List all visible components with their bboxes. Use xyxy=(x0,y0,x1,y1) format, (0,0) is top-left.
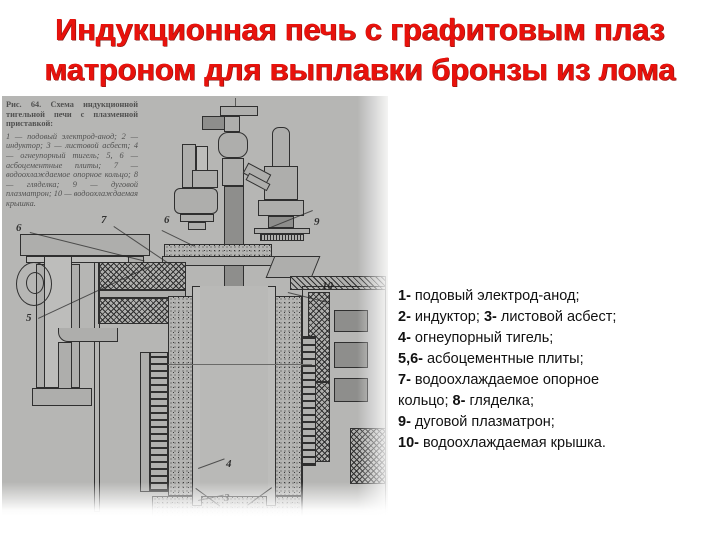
plasmatron-seal-ring xyxy=(260,234,304,241)
callout-6-left: 6 xyxy=(16,222,22,234)
plasmatron-lower-flange xyxy=(258,200,304,216)
plasmatron-body xyxy=(272,127,290,171)
aux-motor-base xyxy=(180,214,214,222)
callout-7: 7 xyxy=(101,214,107,226)
legend-item-10: 10- водоохлаждаемая крышка. xyxy=(398,433,716,454)
callout-10: 10 xyxy=(322,280,333,292)
callout-5: 5 xyxy=(26,312,32,324)
refractory-packing-right xyxy=(274,296,302,496)
aux-motor-housing xyxy=(174,188,218,214)
legend-num-3: 3- xyxy=(484,309,497,325)
legend-text-8: гляделка; xyxy=(465,393,534,409)
legend-item-1: 1- подовый электрод-анод; xyxy=(398,286,716,307)
callout-3: 3 xyxy=(224,492,230,504)
aux-gearbox xyxy=(192,170,218,188)
side-hook-ring-inner xyxy=(26,272,44,294)
legend-num-10: 10- xyxy=(398,435,419,451)
callout-9: 9 xyxy=(314,216,320,228)
right-terminal-block-3 xyxy=(334,378,368,402)
column-cap-block xyxy=(220,106,258,116)
legend-text-7: водоохлаждаемое опорное xyxy=(411,372,599,388)
legend-text-10: водоохлаждаемая крышка. xyxy=(419,435,606,451)
legend-text-2: индуктор; xyxy=(411,309,484,325)
legend-text-5-6: асбоцементные плиты; xyxy=(423,351,584,367)
side-base-block xyxy=(32,388,92,406)
legend-item-7-cont: кольцо; 8- гляделка; xyxy=(398,391,716,412)
legend-num-9: 9- xyxy=(398,414,411,430)
refractory-packing-left xyxy=(168,296,194,496)
legend-item-2: 2- индуктор; 3- листовой асбест; xyxy=(398,307,716,328)
column-sphere-joint xyxy=(218,132,248,158)
support-ring-left xyxy=(98,262,186,290)
legend-list: 1- подовый электрод-анод; 2- индуктор; 3… xyxy=(398,286,716,454)
coil-bus-left xyxy=(140,352,150,492)
aux-motor-foot xyxy=(188,222,206,230)
right-induction-coil xyxy=(302,336,316,466)
legend-num-1: 1- xyxy=(398,288,411,304)
lid-water-jacket xyxy=(266,256,321,278)
page-title: Индукционная печь с графитовым плаз матр… xyxy=(0,10,720,90)
callout-4: 4 xyxy=(226,458,232,470)
legend-item-9: 9- дуговой плазматрон; xyxy=(398,412,716,433)
right-terminal-block-1 xyxy=(334,310,368,332)
central-electrode-rod xyxy=(224,186,244,296)
legend-text-1: подовый электрод-анод; xyxy=(411,288,580,304)
legend-text-9: дуговой плазматрон; xyxy=(411,414,555,430)
right-terminal-block-2 xyxy=(334,342,368,368)
legend-num-4: 4- xyxy=(398,330,411,346)
legend-text-4: огнеупорный тигель; xyxy=(411,330,553,346)
legend-num-5-6: 5,6- xyxy=(398,351,423,367)
induction-coil-left xyxy=(150,352,168,492)
legend-text-7-cont: кольцо; xyxy=(398,393,453,409)
furnace-outer-shell-left xyxy=(94,262,100,512)
side-pipe-elbow xyxy=(58,328,118,342)
legend-item-5-6: 5,6- асбоцементные плиты; xyxy=(398,349,716,370)
furnace-cross-section-drawing: 6 7 6 9 10 5 4 3 2 xyxy=(2,96,388,516)
legend-item-4: 4- огнеупорный тигель; xyxy=(398,328,716,349)
legend-num-7: 7- xyxy=(398,372,411,388)
legend-item-7: 7- водоохлаждаемое опорное xyxy=(398,370,716,391)
crucible-rim-line xyxy=(162,364,312,365)
column-neck xyxy=(224,116,240,132)
legend-num-8: 8- xyxy=(453,393,466,409)
column-shaft-upper xyxy=(222,158,244,186)
right-outer-hatch xyxy=(350,428,386,484)
legend-num-2: 2- xyxy=(398,309,411,325)
callout-6-mid: 6 xyxy=(164,214,170,226)
figure-scan-panel: Рис. 64. Схема индукционной тигельной пе… xyxy=(2,96,388,516)
legend-text-3: листовой асбест; xyxy=(497,309,617,325)
